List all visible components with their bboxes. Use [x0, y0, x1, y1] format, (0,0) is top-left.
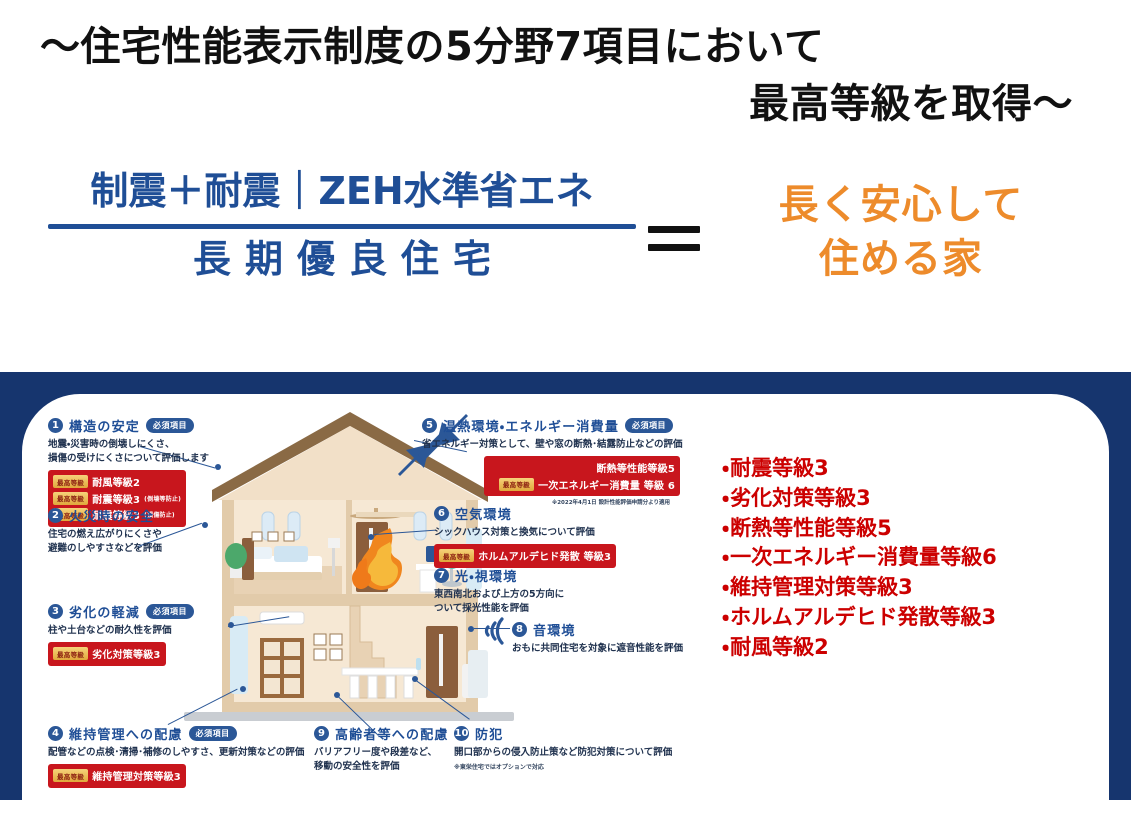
item-6-grade-box: 最高等級 ホルムアルデヒド発散 等級3	[434, 544, 616, 568]
list-item: ホルムアルデヒド発散等級3	[722, 603, 1102, 633]
item-5-grade-box: 断熱等性能等級5 最高等級 一次エネルギー消費量 等級 6	[484, 456, 680, 497]
item-3-grade-box: 最高等級 劣化対策等級3	[48, 642, 166, 666]
equals-icon	[648, 226, 700, 251]
item-3-required-badge: 必須項目	[146, 604, 194, 619]
item-8-block: 8 音環境 おもに共同住宅を対象に遮音性能を評価	[512, 620, 742, 656]
item-7-block: 7 光・視環境 東西南北および上方の5方向に ついて採光性能を評価	[434, 566, 654, 616]
item-6-title: 空気環境	[455, 504, 512, 523]
result-line-1: 長く安心して	[706, 178, 1096, 232]
list-item: 維持管理対策等級3	[722, 573, 1102, 603]
item-5-block: 5 温熱環境・エネルギー消費量 必須項目 省エネルギー対策として、壁や窓の断熱･…	[422, 416, 692, 506]
list-item: 耐震等級3	[722, 454, 1102, 484]
item-6-desc-line-1: シックハウス対策と換気について評価	[434, 526, 664, 540]
fraction: 制震＋耐震｜ZEH水準省エネ 長期優良住宅	[42, 168, 642, 284]
item-4-header: 4 維持管理への配慮 必須項目	[48, 724, 328, 743]
item-10-header: 10 防犯	[454, 724, 704, 743]
grade-text: 耐震等級3	[92, 491, 140, 506]
headline-line-2: 最高等級を取得〜	[0, 81, 1131, 128]
sound-wave-icon	[476, 614, 510, 648]
item-5-desc-line-1: 省エネルギー対策として、壁や窓の断熱･結露防止などの評価	[422, 438, 692, 452]
item-3-title: 劣化の軽減	[69, 602, 140, 621]
item-7-desc-line-1: 東西南北および上方の5方向に	[434, 588, 654, 602]
fraction-bar	[48, 224, 636, 229]
grade-row: 最高等級 維持管理対策等級3	[53, 768, 181, 783]
item-2-header: 2 火災時の安全	[48, 506, 248, 525]
list-item: 劣化対策等級3	[722, 484, 1102, 514]
item-5-number: 5	[422, 418, 437, 433]
item-7-header: 7 光・視環境	[434, 566, 654, 585]
grade-badge: 最高等級	[499, 478, 534, 491]
grade-row: 最高等級 劣化対策等級3	[53, 646, 161, 661]
grade-text: 維持管理対策等級3	[92, 768, 181, 783]
page-headline: 〜住宅性能表示制度の5分野7項目において 最高等級を取得〜	[0, 24, 1131, 128]
item-2-title: 火災時の安全	[69, 506, 154, 525]
item-3-desc-line-1: 柱や土台などの耐久性を評価	[48, 624, 248, 638]
leader-dot-4	[240, 686, 246, 692]
item-5-title: 温熱環境・エネルギー消費量	[443, 416, 619, 435]
fraction-numerator: 制震＋耐震｜ZEH水準省エネ	[42, 168, 642, 216]
item-2-desc-line-1: 住宅の燃え広がりにくさや	[48, 528, 248, 542]
result-line-2: 住める家	[706, 232, 1096, 286]
leader-line-8	[474, 628, 510, 629]
item-7-title: 光・視環境	[455, 566, 517, 585]
item-5-required-badge: 必須項目	[625, 418, 673, 433]
item-3-block: 3 劣化の軽減 必須項目 柱や土台などの耐久性を評価 最高等級 劣化対策等級3	[48, 602, 248, 666]
grade-list: 耐震等級3 劣化対策等級3 断熱等性能等級5 一次エネルギー消費量等級6 維持管…	[722, 454, 1102, 663]
item-2-desc-line-2: 避難のしやすさなどを評価	[48, 542, 248, 556]
grade-badge: 最高等級	[53, 475, 88, 488]
item-10-note: ※東栄住宅ではオプションで対応	[454, 762, 704, 771]
grade-row: 最高等級 一次エネルギー消費量 等級 6	[489, 477, 675, 492]
item-8-header: 8 音環境	[512, 620, 742, 639]
item-2-number: 2	[48, 508, 63, 523]
item-9-number: 9	[314, 726, 329, 741]
item-10-block: 10 防犯 開口部からの侵入防止策など防犯対策について評価 ※東栄住宅ではオプシ…	[454, 724, 704, 771]
item-10-title: 防犯	[475, 724, 503, 743]
infographic-white-card: 1 構造の安定 必須項目 地震・災害時の倒壊しにくさ、 損傷の受けにくさについて…	[22, 394, 1109, 814]
list-item: 断熱等性能等級5	[722, 514, 1102, 544]
grade-summary-list: 耐震等級3 劣化対策等級3 断熱等性能等級5 一次エネルギー消費量等級6 維持管…	[722, 454, 1102, 663]
item-1-title: 構造の安定	[69, 416, 140, 435]
equation-result: 長く安心して 住める家	[706, 178, 1096, 286]
grade-badge: 最高等級	[53, 492, 88, 505]
item-3-header: 3 劣化の軽減 必須項目	[48, 602, 248, 621]
headline-line-1: 〜住宅性能表示制度の5分野7項目において	[0, 24, 1131, 71]
fraction-denominator: 長期優良住宅	[42, 235, 642, 284]
list-item: 耐風等級2	[722, 633, 1102, 663]
item-7-desc-line-2: ついて採光性能を評価	[434, 602, 654, 616]
equation-block: 制震＋耐震｜ZEH水準省エネ 長期優良住宅 長く安心して 住める家	[0, 168, 1131, 338]
item-8-desc-line-1: おもに共同住宅を対象に遮音性能を評価	[512, 642, 742, 656]
item-2-block: 2 火災時の安全 住宅の燃え広がりにくさや 避難のしやすさなどを評価	[48, 506, 248, 556]
grade-text: 劣化対策等級3	[92, 646, 160, 661]
item-4-block: 4 維持管理への配慮 必須項目 配管などの点検･清掃･補修のしやすさ、更新対策な…	[48, 724, 328, 788]
item-10-number: 10	[454, 726, 469, 741]
grade-badge: 最高等級	[53, 769, 88, 782]
grade-text: ホルムアルデヒド発散 等級3	[478, 548, 611, 563]
grade-row: 最高等級 耐震等級3 (倒壊等防止)	[53, 491, 181, 506]
grade-text: 断熱等性能等級5	[596, 460, 675, 475]
infographic-panel: 1 構造の安定 必須項目 地震・災害時の倒壊しにくさ、 損傷の受けにくさについて…	[0, 372, 1131, 800]
item-4-desc-line-1: 配管などの点検･清掃･補修のしやすさ、更新対策などの評価	[48, 746, 328, 760]
item-7-number: 7	[434, 568, 449, 583]
grade-row: 最高等級 耐風等級2	[53, 474, 181, 489]
grade-badge: 最高等級	[439, 549, 474, 562]
grade-text: 耐風等級2	[92, 474, 140, 489]
item-4-title: 維持管理への配慮	[69, 724, 183, 743]
item-1-required-badge: 必須項目	[146, 418, 194, 433]
item-4-required-badge: 必須項目	[189, 726, 237, 741]
item-4-number: 4	[48, 726, 63, 741]
item-8-title: 音環境	[533, 620, 576, 639]
item-4-grade-box: 最高等級 維持管理対策等級3	[48, 764, 186, 788]
item-5-header: 5 温熱環境・エネルギー消費量 必須項目	[422, 416, 692, 435]
item-1-header: 1 構造の安定 必須項目	[48, 416, 258, 435]
grade-text: 一次エネルギー消費量 等級 6	[538, 477, 675, 492]
grade-row: 断熱等性能等級5	[489, 460, 675, 475]
item-6-number: 6	[434, 506, 449, 521]
item-1-desc-line-1: 地震・災害時の倒壊しにくさ、	[48, 438, 258, 452]
item-8-number: 8	[512, 622, 527, 637]
item-9-title: 高齢者等への配慮	[335, 724, 449, 743]
item-1-desc-line-2: 損傷の受けにくさについて評価します	[48, 452, 258, 466]
grade-badge: 最高等級	[53, 647, 88, 660]
grade-sub: (倒壊等防止)	[144, 494, 181, 503]
item-10-desc-line-1: 開口部からの侵入防止策など防犯対策について評価	[454, 746, 704, 760]
item-6-block: 6 空気環境 シックハウス対策と換気について評価 最高等級 ホルムアルデヒド発散…	[434, 504, 664, 568]
grade-row: 最高等級 ホルムアルデヒド発散 等級3	[439, 548, 611, 563]
item-6-header: 6 空気環境	[434, 504, 664, 523]
item-3-number: 3	[48, 604, 63, 619]
list-item: 一次エネルギー消費量等級6	[722, 543, 1102, 573]
item-1-number: 1	[48, 418, 63, 433]
